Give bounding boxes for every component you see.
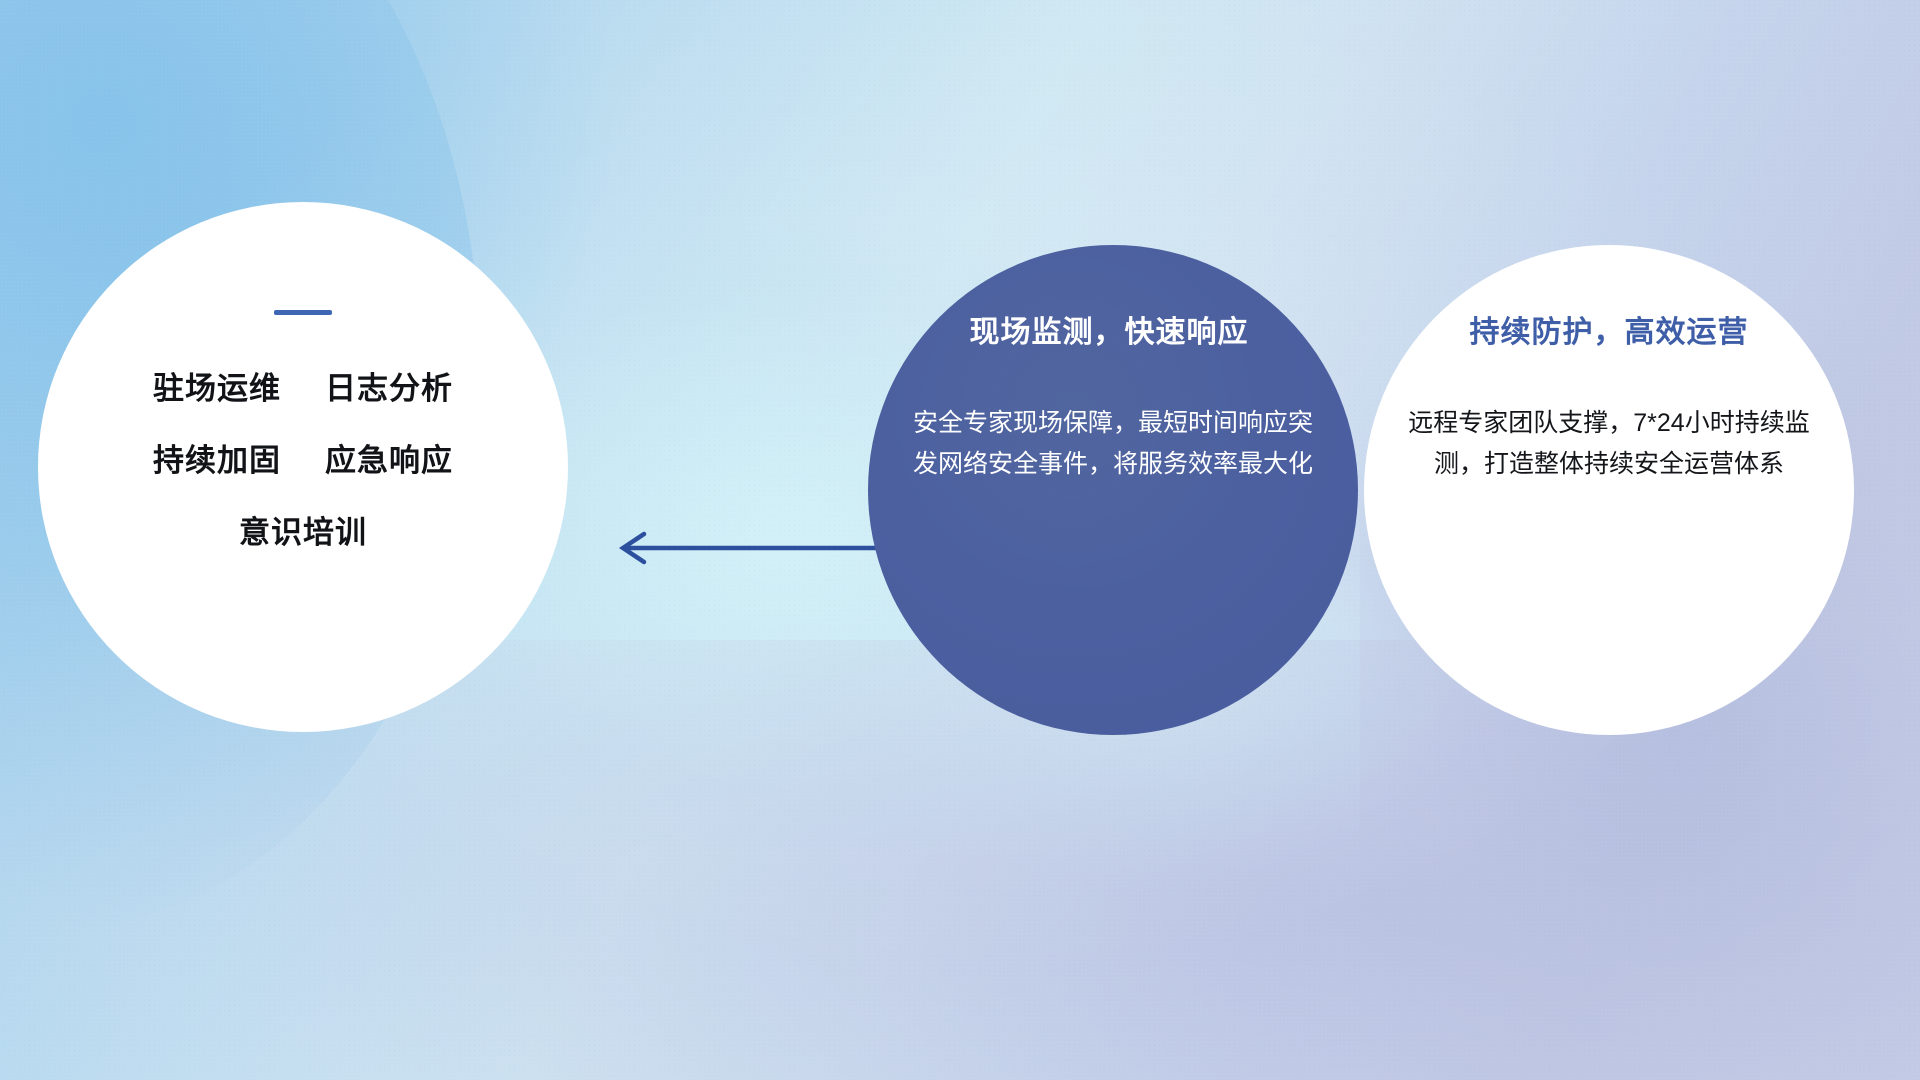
onsite-monitoring-content: 现场监测，快速响应 安全专家现场保障，最短时间响应突发网络安全事件，将服务效率最… [868,245,1358,484]
continuous-protection-body: 远程专家团队支撑，7*24小时持续监测，打造整体持续安全运营体系 [1394,403,1824,484]
keyword-item: 持续加固 [153,435,281,480]
onsite-monitoring-heading: 现场监测，快速响应 [894,307,1324,351]
continuous-protection-circle: 持续防护，高效运营 远程专家团队支撑，7*24小时持续监测，打造整体持续安全运营… [1364,245,1854,735]
onsite-monitoring-body: 安全专家现场保障，最短时间响应突发网络安全事件，将服务效率最大化 [902,403,1324,484]
keyword-row: 意识培训 [38,507,568,552]
keyword-row: 驻场运维 日志分析 [38,363,568,408]
capability-keywords-circle: 驻场运维 日志分析 持续加固 应急响应 意识培训 [38,202,568,732]
continuous-protection-content: 持续防护，高效运营 远程专家团队支撑，7*24小时持续监测，打造整体持续安全运营… [1364,245,1854,484]
onsite-monitoring-circle: 现场监测，快速响应 安全专家现场保障，最短时间响应突发网络安全事件，将服务效率最… [868,245,1358,735]
keyword-row: 持续加固 应急响应 [38,435,568,480]
arrow-left-icon [604,520,884,576]
keyword-item: 应急响应 [325,435,453,480]
keyword-item: 意识培训 [239,507,367,552]
slide-canvas: 驻场运维 日志分析 持续加固 应急响应 意识培训 现场监测，快速响应 安全专家现… [0,0,1920,1080]
horizontal-dash-icon [274,310,332,315]
capability-keywords-content: 驻场运维 日志分析 持续加固 应急响应 意识培训 [38,202,568,579]
continuous-protection-heading: 持续防护，高效运营 [1394,307,1824,351]
keyword-item: 驻场运维 [153,363,281,408]
keyword-item: 日志分析 [325,363,453,408]
